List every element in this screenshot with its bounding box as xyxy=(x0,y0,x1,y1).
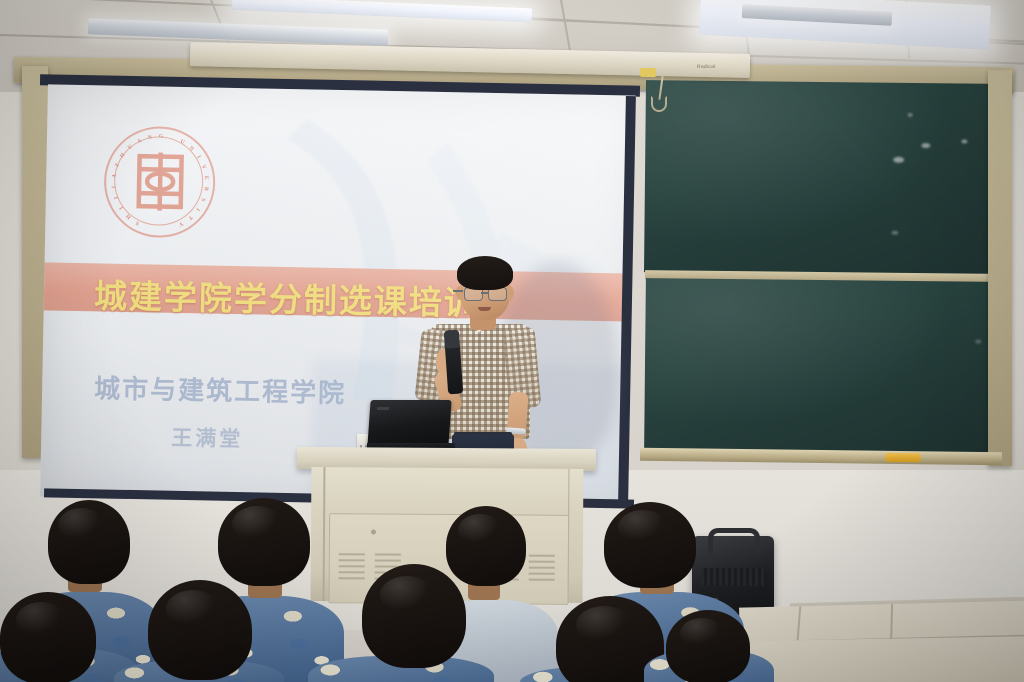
laptop[interactable] xyxy=(367,400,451,446)
roller-brand-label: Radical xyxy=(697,64,716,70)
chalkboard-upper-panel xyxy=(644,80,998,276)
roller-cord-hook[interactable] xyxy=(651,96,667,112)
classroom-photo: Radical xyxy=(0,0,1024,682)
pa-speaker-handle[interactable] xyxy=(708,528,760,556)
speaker-hair xyxy=(457,256,513,290)
chalk-piece xyxy=(885,453,921,462)
chalkboard-frame-right xyxy=(988,70,1012,466)
roller-clip xyxy=(640,68,656,77)
chalkboard-lower-panel xyxy=(644,278,998,454)
